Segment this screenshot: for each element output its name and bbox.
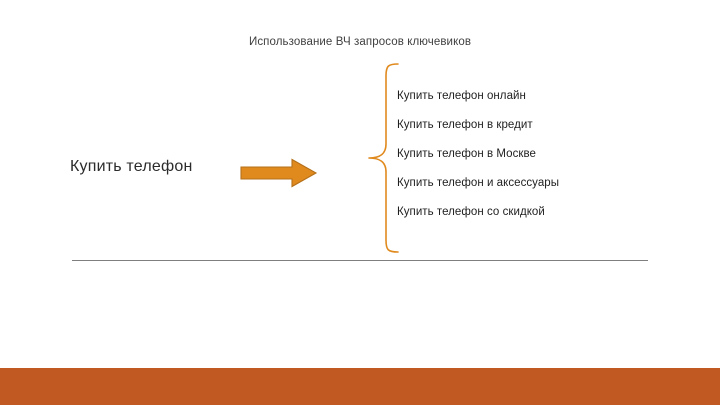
horizontal-divider [72, 260, 648, 261]
list-item: Купить телефон со скидкой [397, 204, 697, 233]
list-item: Купить телефон в кредит [397, 117, 697, 146]
footer-accent-bar [0, 368, 720, 405]
source-query-label: Купить телефон [70, 158, 250, 176]
slide-title: Использование ВЧ запросов ключевиков [140, 36, 580, 48]
list-item: Купить телефон в Москве [397, 146, 697, 175]
list-item: Купить телефон и аксессуары [397, 175, 697, 204]
list-item: Купить телефон онлайн [397, 88, 697, 117]
right-arrow-icon [240, 158, 318, 188]
expanded-queries-list: Купить телефон онлайн Купить телефон в к… [397, 88, 697, 233]
slide-canvas: Использование ВЧ запросов ключевиков Куп… [0, 0, 720, 405]
curly-brace-icon [366, 62, 400, 254]
